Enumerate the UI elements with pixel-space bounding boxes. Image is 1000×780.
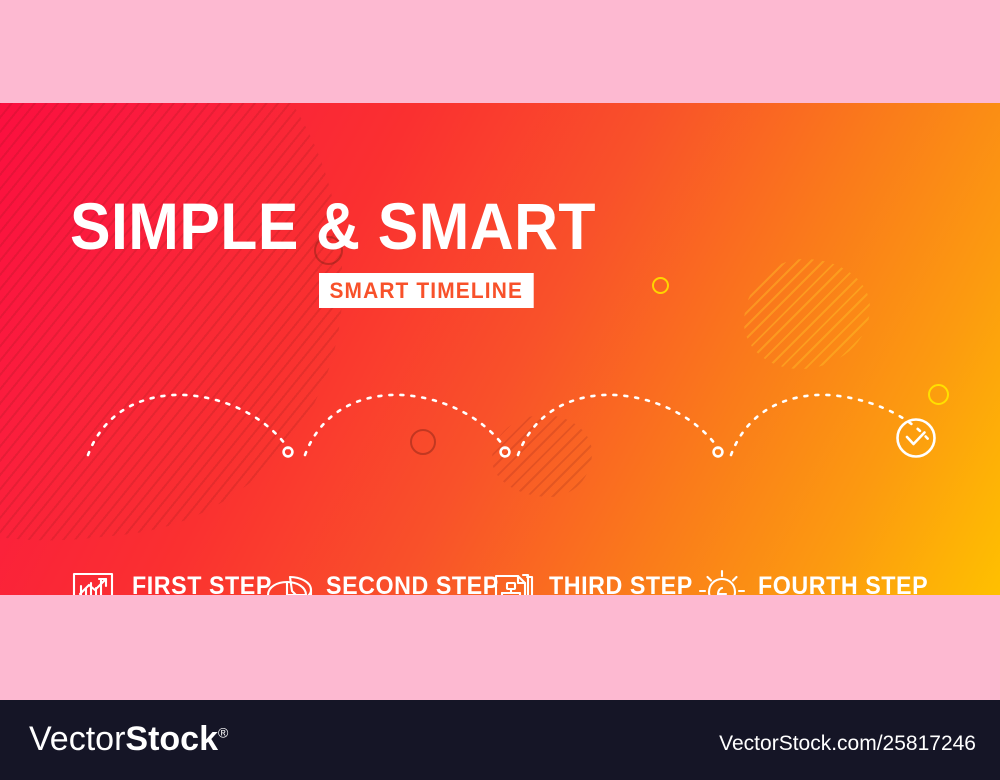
lightbulb-idea-icon xyxy=(696,569,748,595)
step-3-title: THIRD STEP xyxy=(549,574,693,595)
logo-text-vector: Vector xyxy=(29,720,125,758)
connector-arc-1 xyxy=(88,395,288,455)
connector-arc-3 xyxy=(518,395,718,455)
timeline-step-2[interactable]: SECOND STEP LOREM IPSUM xyxy=(264,569,512,595)
timeline-step-4[interactable]: FOURTH STEP LOREM IPSUM xyxy=(696,569,941,595)
timeline-step-3[interactable]: THIRD STEP LOREM IPSUM xyxy=(487,569,704,595)
banner: SIMPLE & SMART SMART TIMELINE xyxy=(0,103,1000,595)
footer-watermark-bar: VectorStock® VectorStock.com/25817246 xyxy=(0,700,1000,780)
document-diagram-pencil-icon xyxy=(487,569,539,595)
vectorstock-url: VectorStock.com/25817246 xyxy=(719,732,976,756)
logo-text-stock: Stock xyxy=(125,720,218,758)
check-circle-icon xyxy=(898,420,935,457)
connector-arc-2 xyxy=(305,395,505,455)
vectorstock-logo: VectorStock® xyxy=(29,722,228,756)
registered-trademark-icon: ® xyxy=(218,725,228,741)
step-4-title: FOURTH STEP xyxy=(758,574,928,595)
step-2-title: SECOND STEP xyxy=(326,574,499,595)
step-4-text: FOURTH STEP LOREM IPSUM xyxy=(758,574,941,595)
step-2-text: SECOND STEP LOREM IPSUM xyxy=(326,574,512,595)
pie-chart-3d-icon xyxy=(264,569,316,595)
chart-speech-bubble-icon xyxy=(70,569,122,595)
step-1-text: FIRST STEP LOREM IPSUM xyxy=(132,574,282,595)
step-1-title: FIRST STEP xyxy=(132,574,272,595)
step-3-text: THIRD STEP LOREM IPSUM xyxy=(549,574,704,595)
timeline-step-1[interactable]: FIRST STEP LOREM IPSUM xyxy=(70,569,282,595)
timeline-connectors xyxy=(0,103,1000,595)
